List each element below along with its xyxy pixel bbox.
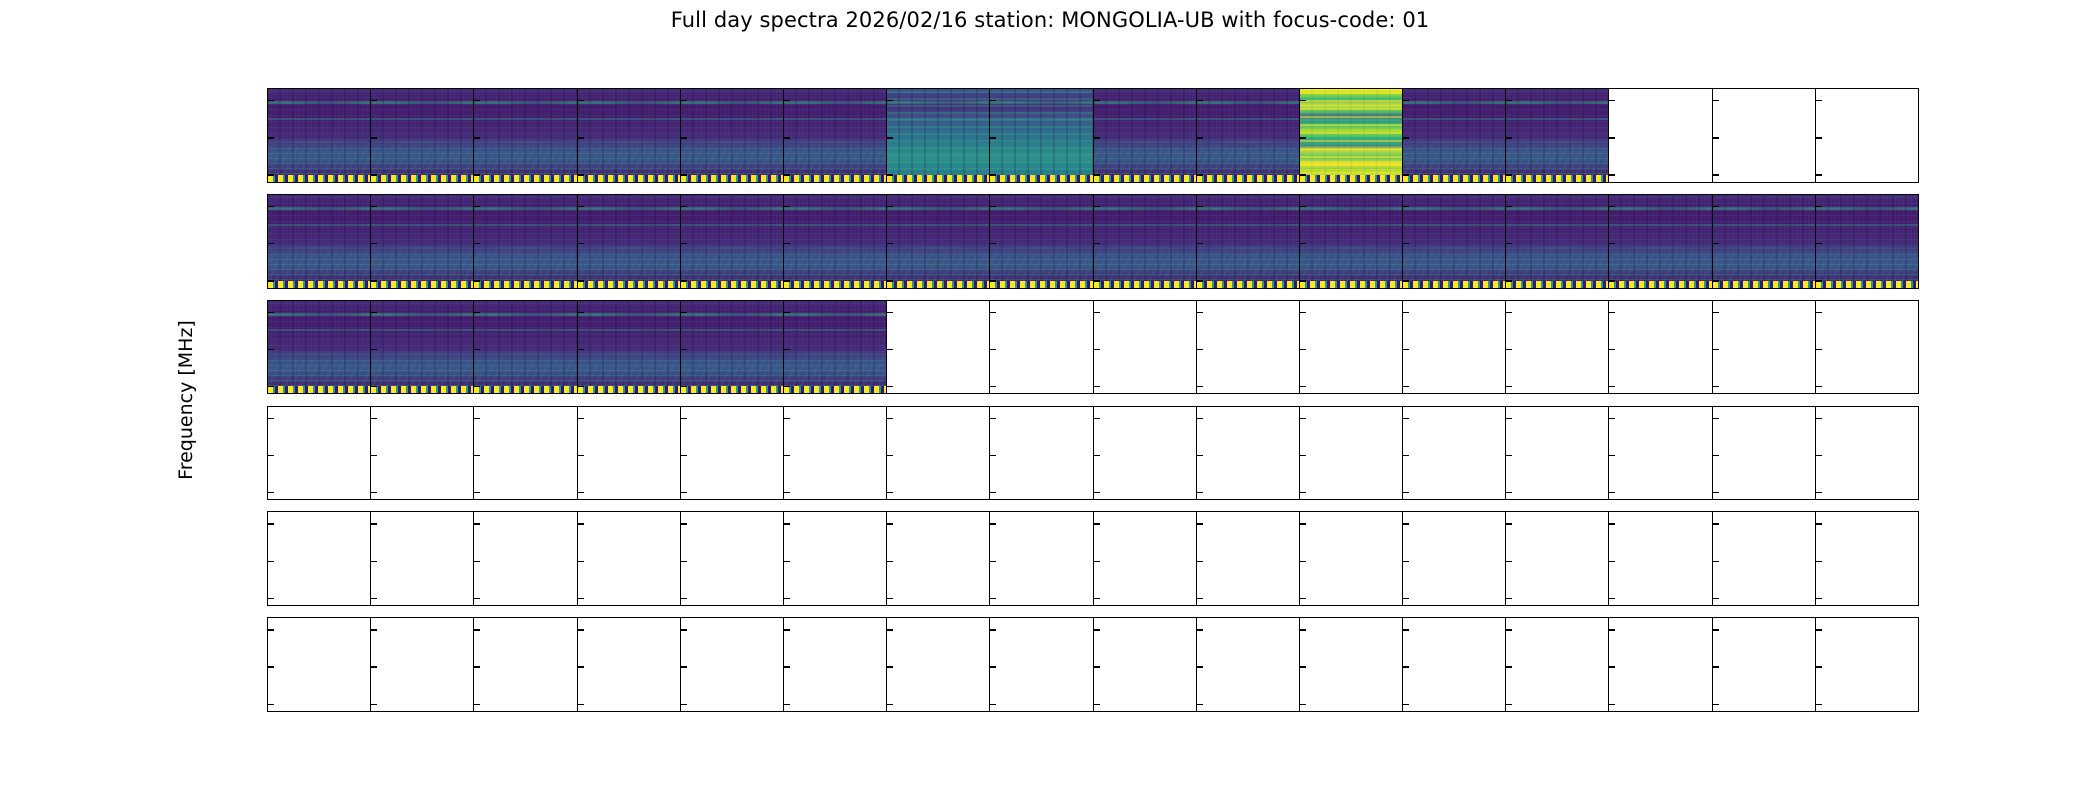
- y-tick-mark: [1403, 386, 1409, 387]
- y-tick-mark: [990, 206, 996, 207]
- y-tick-mark: [681, 137, 687, 138]
- y-tick-mark: [474, 243, 480, 244]
- spectrogram-cell[interactable]: [990, 618, 1093, 711]
- y-tick-mark: [1816, 629, 1822, 630]
- y-tick-mark: [1197, 137, 1203, 138]
- y-tick-mark: [268, 523, 274, 524]
- spectrogram-cell[interactable]: [1609, 407, 1712, 500]
- y-tick-mark: [578, 206, 584, 207]
- marker-line-50mhz: [1403, 175, 1505, 182]
- y-tick-mark: [268, 312, 274, 313]
- y-tick-mark: [1816, 100, 1822, 101]
- y-tick-mark: [1300, 666, 1306, 667]
- y-tick-mark: [268, 100, 274, 101]
- y-tick-mark: [1713, 666, 1719, 667]
- y-tick-mark: [784, 243, 790, 244]
- spectrogram-cell[interactable]: [784, 301, 887, 394]
- spectrogram-cell[interactable]: [371, 301, 474, 394]
- y-tick-mark: [887, 561, 893, 562]
- y-tick-mark: [1094, 243, 1100, 244]
- spectrogram-row-20-23ut[interactable]: 1501005020-23UT0015304500153045001530450…: [267, 617, 1919, 712]
- marker-line-50mhz: [1197, 281, 1299, 288]
- marker-line-50mhz: [887, 175, 989, 182]
- y-tick-mark: [1300, 455, 1306, 456]
- y-tick-mark: [1506, 206, 1512, 207]
- y-tick-mark: [990, 349, 996, 350]
- y-tick-mark: [887, 137, 893, 138]
- marker-line-50mhz: [681, 175, 783, 182]
- spectrogram-cell[interactable]: [1300, 195, 1403, 288]
- y-tick-mark: [1713, 243, 1719, 244]
- spectrogram-cell[interactable]: [784, 89, 887, 182]
- y-tick-mark: [1197, 100, 1203, 101]
- y-tick-mark: [1816, 312, 1822, 313]
- spectrogram-cell[interactable]: [578, 512, 681, 605]
- y-tick-mark: [1506, 243, 1512, 244]
- y-tick-mark: [578, 386, 584, 387]
- spectrogram-image: [1300, 89, 1402, 182]
- spectrogram-cell[interactable]: [681, 301, 784, 394]
- y-tick-mark: [784, 137, 790, 138]
- spectrogram-cell[interactable]: [1197, 301, 1300, 394]
- spectrogram-cell[interactable]: [681, 407, 784, 500]
- spectrogram-cell[interactable]: [1094, 407, 1197, 500]
- y-tick-mark: [784, 455, 790, 456]
- x-tick-mark: [1197, 711, 1198, 712]
- spectrogram-cell[interactable]: [1609, 89, 1712, 182]
- spectrogram-cell[interactable]: [1094, 618, 1197, 711]
- y-tick-mark: [681, 174, 687, 175]
- spectrogram-cell[interactable]: [1403, 89, 1506, 182]
- spectrogram-cell[interactable]: [1094, 512, 1197, 605]
- y-tick-mark: [887, 455, 893, 456]
- spectrogram-cell[interactable]: [1713, 618, 1816, 711]
- spectrogram-layer-streaks: [1094, 89, 1196, 182]
- spectrogram-cell[interactable]: [1506, 89, 1609, 182]
- spectrogram-row-12-15ut[interactable]: 1501005012-15UT: [267, 406, 1919, 501]
- y-tick-mark: [578, 629, 584, 630]
- spectrogram-cell[interactable]: [1713, 512, 1816, 605]
- spectrogram-layer-streaks: [681, 195, 783, 288]
- y-tick-mark: [887, 280, 893, 281]
- spectrogram-layer-streaks: [1609, 195, 1711, 288]
- spectrogram-row-04-07ut[interactable]: 1501005004-07UT: [267, 194, 1919, 289]
- spectrogram-cell[interactable]: [1506, 301, 1609, 394]
- x-tick-mark: [1714, 711, 1715, 712]
- spectrogram-cell[interactable]: [578, 195, 681, 288]
- spectrogram-image: [371, 89, 473, 182]
- y-tick-mark: [681, 312, 687, 313]
- spectrogram-cell[interactable]: [990, 89, 1093, 182]
- spectrogram-image: [1094, 195, 1196, 288]
- y-tick-mark: [1609, 598, 1615, 599]
- spectrogram-cell[interactable]: [578, 618, 681, 711]
- spectrogram-cell[interactable]: [268, 618, 371, 711]
- y-tick-mark: [474, 137, 480, 138]
- y-tick-mark: [1403, 629, 1409, 630]
- spectrogram-cell[interactable]: [1816, 89, 1918, 182]
- y-tick-mark: [1300, 312, 1306, 313]
- marker-line-50mhz: [784, 175, 886, 182]
- marker-line-50mhz: [578, 386, 680, 393]
- spectrogram-cell[interactable]: [1506, 618, 1609, 711]
- spectrogram-cell[interactable]: [784, 512, 887, 605]
- y-tick-mark: [1094, 100, 1100, 101]
- spectrogram-cell[interactable]: [474, 89, 577, 182]
- marker-line-50mhz: [268, 281, 370, 288]
- x-tick-mark: [1610, 711, 1611, 712]
- spectrogram-cell[interactable]: [268, 195, 371, 288]
- spectrogram-cell[interactable]: [1197, 195, 1300, 288]
- spectrogram-cell[interactable]: [1403, 407, 1506, 500]
- y-tick-mark: [578, 666, 584, 667]
- spectrogram-layer-streaks: [474, 301, 576, 394]
- x-tick-mark: [1404, 711, 1405, 712]
- y-tick-mark: [1506, 704, 1512, 705]
- spectrogram-cell[interactable]: [990, 512, 1093, 605]
- spectrogram-cell[interactable]: [1506, 407, 1609, 500]
- y-tick-mark: [1094, 666, 1100, 667]
- spectrogram-image: [268, 301, 370, 394]
- marker-line-50mhz: [1094, 281, 1196, 288]
- spectrogram-cell[interactable]: [990, 301, 1093, 394]
- spectrogram-row-16-19ut[interactable]: 1501005016-19UT: [267, 511, 1919, 606]
- y-tick-mark: [990, 312, 996, 313]
- spectrogram-cell[interactable]: [1403, 301, 1506, 394]
- spectrogram-cell[interactable]: [887, 89, 990, 182]
- spectrogram-cell[interactable]: [1300, 618, 1403, 711]
- spectrogram-cell[interactable]: [681, 195, 784, 288]
- y-tick-mark: [990, 455, 996, 456]
- marker-line-50mhz: [784, 281, 886, 288]
- spectrogram-image: [887, 89, 989, 182]
- spectrogram-cell[interactable]: [474, 407, 577, 500]
- spectrogram-image: [578, 301, 680, 394]
- spectrogram-cell[interactable]: [371, 512, 474, 605]
- spectrogram-cell[interactable]: [681, 89, 784, 182]
- spectrogram-layer-streaks: [268, 89, 370, 182]
- y-tick-mark: [268, 386, 274, 387]
- spectrogram-cell[interactable]: [1094, 89, 1197, 182]
- row-cells: [268, 407, 1918, 500]
- spectrogram-cell[interactable]: [1197, 89, 1300, 182]
- y-tick-mark: [474, 100, 480, 101]
- y-tick-mark: [1713, 174, 1719, 175]
- y-tick-mark-outer: [267, 311, 268, 312]
- y-tick-mark: [474, 455, 480, 456]
- y-tick-mark: [1713, 206, 1719, 207]
- page-title: Full day spectra 2026/02/16 station: MON…: [0, 8, 2100, 32]
- spectrogram-cell[interactable]: [784, 195, 887, 288]
- spectrogram-image: [681, 301, 783, 394]
- y-tick-mark: [1403, 174, 1409, 175]
- y-tick-mark: [1609, 523, 1615, 524]
- y-tick-mark-outer: [267, 348, 268, 349]
- y-tick-mark: [784, 100, 790, 101]
- y-tick-mark: [1094, 206, 1100, 207]
- spectrogram-cell[interactable]: [1094, 301, 1197, 394]
- spectrogram-cell[interactable]: [887, 407, 990, 500]
- y-tick-mark: [681, 386, 687, 387]
- spectrogram-cell[interactable]: [1506, 195, 1609, 288]
- y-tick-mark: [887, 418, 893, 419]
- spectrogram-cell[interactable]: [1816, 195, 1918, 288]
- spectrogram-image: [887, 195, 989, 288]
- spectrogram-cell[interactable]: [1403, 512, 1506, 605]
- y-tick-mark: [681, 561, 687, 562]
- y-tick-mark: [1300, 523, 1306, 524]
- y-tick-mark: [1816, 137, 1822, 138]
- y-tick-mark-outer: [267, 523, 268, 524]
- y-tick-mark: [887, 629, 893, 630]
- spectrogram-cell[interactable]: [1403, 618, 1506, 711]
- y-tick-mark: [1094, 349, 1100, 350]
- marker-line-50mhz: [990, 281, 1092, 288]
- spectrogram-image: [1300, 195, 1402, 288]
- y-tick-mark: [1300, 629, 1306, 630]
- y-tick-mark: [1300, 418, 1306, 419]
- y-tick-mark: [1403, 666, 1409, 667]
- y-tick-mark: [371, 206, 377, 207]
- spectrogram-cell[interactable]: [887, 618, 990, 711]
- spectrogram-layer-streaks: [268, 301, 370, 394]
- y-tick-mark: [1197, 704, 1203, 705]
- y-tick-mark: [1506, 666, 1512, 667]
- y-tick-mark: [784, 523, 790, 524]
- spectrogram-cell[interactable]: [1816, 512, 1918, 605]
- spectrogram-cell[interactable]: [1816, 407, 1918, 500]
- y-tick-mark: [268, 349, 274, 350]
- y-tick-mark: [474, 523, 480, 524]
- y-tick-mark: [1094, 312, 1100, 313]
- y-tick-mark: [1403, 418, 1409, 419]
- spectrogram-cell[interactable]: [578, 407, 681, 500]
- y-tick-mark-outer: [267, 205, 268, 206]
- spectrogram-cell[interactable]: [1197, 618, 1300, 711]
- spectrogram-layer-streaks: [474, 195, 576, 288]
- spectrogram-cell[interactable]: [887, 301, 990, 394]
- spectrogram-cell[interactable]: [268, 89, 371, 182]
- y-tick-mark: [1609, 280, 1615, 281]
- y-tick-mark: [1816, 386, 1822, 387]
- spectrogram-cell[interactable]: [474, 301, 577, 394]
- spectrogram-cell[interactable]: [474, 195, 577, 288]
- spectrogram-cell[interactable]: [371, 89, 474, 182]
- y-tick-mark: [1506, 137, 1512, 138]
- spectrogram-layer-streaks: [1197, 195, 1299, 288]
- y-tick-mark: [990, 561, 996, 562]
- spectrogram-cell[interactable]: [1713, 195, 1816, 288]
- y-tick-mark: [1816, 243, 1822, 244]
- y-tick-mark: [887, 312, 893, 313]
- y-tick-mark: [1197, 598, 1203, 599]
- y-tick-mark: [1713, 386, 1719, 387]
- y-tick-mark: [268, 206, 274, 207]
- y-tick-mark: [578, 100, 584, 101]
- y-tick-mark: [990, 280, 996, 281]
- y-tick-mark: [784, 492, 790, 493]
- y-tick-mark: [784, 174, 790, 175]
- y-tick-mark: [1816, 418, 1822, 419]
- spectrogram-cell[interactable]: [1300, 512, 1403, 605]
- marker-line-50mhz: [371, 386, 473, 393]
- marker-line-50mhz: [784, 386, 886, 393]
- y-tick-mark: [474, 349, 480, 350]
- y-tick-mark: [474, 561, 480, 562]
- y-tick-mark: [1609, 349, 1615, 350]
- marker-line-50mhz: [1197, 175, 1299, 182]
- spectrogram-cell[interactable]: [681, 618, 784, 711]
- spectrogram-cell[interactable]: [578, 301, 681, 394]
- spectrogram-cell[interactable]: [1506, 512, 1609, 605]
- spectrogram-image: [681, 195, 783, 288]
- spectrogram-row-00-03ut[interactable]: 1501005000-03UT: [267, 88, 1919, 183]
- y-tick-mark-outer: [267, 454, 268, 455]
- spectrogram-cell[interactable]: [1300, 407, 1403, 500]
- spectrogram-image: [681, 89, 783, 182]
- spectrogram-cell[interactable]: [1094, 195, 1197, 288]
- row-cells: [268, 89, 1918, 182]
- y-tick-mark: [784, 349, 790, 350]
- spectrogram-cell[interactable]: [1300, 301, 1403, 394]
- row-cells: [268, 512, 1918, 605]
- x-tick-mark: [268, 711, 269, 712]
- y-tick-mark: [681, 523, 687, 524]
- y-tick-mark: [371, 523, 377, 524]
- spectrogram-layer-streaks: [268, 195, 370, 288]
- y-tick-mark: [990, 386, 996, 387]
- y-tick-mark-outer: [267, 174, 268, 175]
- spectrogram-cell[interactable]: [784, 407, 887, 500]
- y-tick-mark: [474, 629, 480, 630]
- y-tick-mark: [784, 206, 790, 207]
- spectrogram-cell[interactable]: [474, 512, 577, 605]
- y-tick-mark: [1094, 386, 1100, 387]
- spectrogram-cell[interactable]: [371, 407, 474, 500]
- spectrogram-image: [474, 195, 576, 288]
- y-tick-mark: [1609, 100, 1615, 101]
- y-tick-mark: [371, 492, 377, 493]
- y-tick-mark: [1300, 206, 1306, 207]
- spectrogram-image: [990, 89, 1092, 182]
- y-tick-mark: [1197, 418, 1203, 419]
- spectrogram-layer-streaks: [371, 195, 473, 288]
- y-tick-mark: [887, 386, 893, 387]
- spectrogram-layer-streaks: [1403, 195, 1505, 288]
- spectrogram-row-08-11ut[interactable]: 1501005008-11UT: [267, 300, 1919, 395]
- y-tick-mark: [1713, 704, 1719, 705]
- y-tick-mark: [1403, 523, 1409, 524]
- y-tick-mark: [1197, 455, 1203, 456]
- spectrogram-cell[interactable]: [1197, 512, 1300, 605]
- y-tick-mark: [1816, 455, 1822, 456]
- y-tick-mark: [474, 312, 480, 313]
- spectrogram-cell[interactable]: [887, 512, 990, 605]
- spectrogram-cell[interactable]: [990, 407, 1093, 500]
- y-tick-mark: [1094, 418, 1100, 419]
- spectrogram-image: [1197, 195, 1299, 288]
- spectrogram-cell[interactable]: [784, 618, 887, 711]
- y-tick-mark-outer: [267, 280, 268, 281]
- marker-line-50mhz: [1300, 281, 1402, 288]
- y-tick-mark: [1609, 137, 1615, 138]
- x-tick-mark: [784, 711, 785, 712]
- y-tick-mark: [1403, 455, 1409, 456]
- spectrogram-cell[interactable]: [371, 618, 474, 711]
- y-tick-mark: [1506, 523, 1512, 524]
- spectrogram-cell[interactable]: [1816, 618, 1918, 711]
- x-tick-mark: [888, 711, 889, 712]
- spectrogram-cell[interactable]: [1609, 618, 1712, 711]
- y-tick-mark-outer: [267, 703, 268, 704]
- spectrogram-cell[interactable]: [268, 407, 371, 500]
- y-tick-mark: [990, 418, 996, 419]
- y-tick-mark: [681, 280, 687, 281]
- spectrogram-image: [1609, 195, 1711, 288]
- y-tick-mark: [474, 598, 480, 599]
- y-tick-mark: [578, 349, 584, 350]
- spectrogram-cell[interactable]: [1609, 195, 1712, 288]
- marker-line-50mhz: [1713, 281, 1815, 288]
- y-tick-mark: [1506, 100, 1512, 101]
- spectrogram-cell[interactable]: [1816, 301, 1918, 394]
- y-tick-mark: [990, 492, 996, 493]
- y-tick-mark: [681, 598, 687, 599]
- spectrogram-cell[interactable]: [1609, 512, 1712, 605]
- y-tick-mark-outer: [267, 629, 268, 630]
- spectrogram-cell[interactable]: [474, 618, 577, 711]
- spectrogram-cell[interactable]: [1713, 89, 1816, 182]
- y-tick-mark: [1197, 386, 1203, 387]
- x-tick-mark: [991, 711, 992, 712]
- spectrogram-layer-streaks: [1506, 195, 1608, 288]
- spectrogram-cell[interactable]: [268, 512, 371, 605]
- spectrogram-layer-streaks: [1713, 195, 1815, 288]
- y-tick-mark: [1300, 174, 1306, 175]
- spectrogram-cell[interactable]: [1197, 407, 1300, 500]
- x-tick-mark: [1094, 711, 1095, 712]
- spectrogram-cell[interactable]: [681, 512, 784, 605]
- spectrogram-cell[interactable]: [578, 89, 681, 182]
- spectrogram-image: [1403, 195, 1505, 288]
- spectrogram-cell[interactable]: [887, 195, 990, 288]
- y-tick-mark: [784, 280, 790, 281]
- spectrogram-layer-streaks: [1094, 195, 1196, 288]
- spectrogram-cell[interactable]: [990, 195, 1093, 288]
- spectrogram-layer-streaks: [1816, 195, 1918, 288]
- spectrogram-cell[interactable]: [1403, 195, 1506, 288]
- spectrogram-cell[interactable]: [1713, 407, 1816, 500]
- marker-line-50mhz: [474, 386, 576, 393]
- y-tick-mark: [268, 666, 274, 667]
- spectrogram-layer-streaks: [1403, 89, 1505, 182]
- spectrogram-image: [1094, 89, 1196, 182]
- y-tick-mark-outer: [267, 242, 268, 243]
- y-tick-mark: [578, 174, 584, 175]
- spectrogram-cell[interactable]: [1609, 301, 1712, 394]
- x-tick-mark: [1301, 711, 1302, 712]
- x-tick-mark: [1817, 711, 1818, 712]
- spectrogram-cell[interactable]: [371, 195, 474, 288]
- spectrogram-cell[interactable]: [268, 301, 371, 394]
- y-tick-mark: [474, 492, 480, 493]
- spectrogram-cell[interactable]: [1300, 89, 1403, 182]
- y-tick-mark: [1506, 629, 1512, 630]
- spectrogram-layer-streaks: [681, 89, 783, 182]
- spectrogram-cell[interactable]: [1713, 301, 1816, 394]
- y-tick-mark: [1403, 492, 1409, 493]
- y-tick-mark: [1713, 629, 1719, 630]
